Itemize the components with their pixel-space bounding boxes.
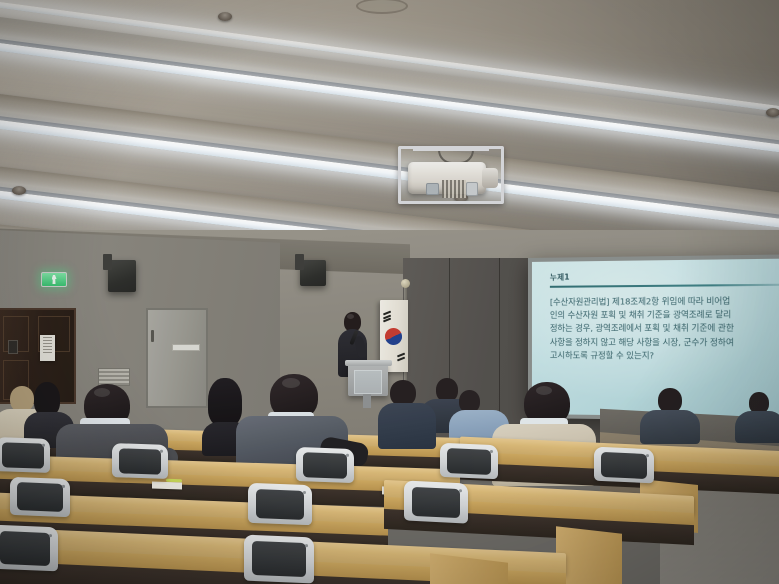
slide-line-2: 인의 수산자원 포획 및 채취 기준을 광역조례로 달리 — [550, 308, 779, 323]
slide-line-3: 정하는 경우, 광역조례에서 포획 및 채취 기준에 관한 — [550, 322, 779, 336]
notice-line — [43, 343, 52, 344]
speaker-bracket — [295, 254, 304, 270]
sprinkler-head-3 — [766, 108, 779, 117]
lecture-chair[interactable] — [248, 483, 312, 525]
slide-body-text: [수산자원관리법] 제18조제2항 위임에 따라 비어업 인의 수산자원 포획 … — [550, 294, 779, 364]
chair-bolt — [62, 485, 65, 488]
slide-line-1: [수산자원관리법] 제18조제2항 위임에 따라 비어업 — [550, 294, 779, 309]
attendee-torso — [378, 403, 436, 449]
podium-top-ledge — [345, 360, 392, 366]
podium-stem — [363, 394, 371, 408]
notice-line — [43, 352, 52, 353]
presenter-hair-highlight — [347, 314, 354, 319]
lecture-chair[interactable] — [112, 443, 168, 479]
projector-lens — [482, 168, 498, 188]
sprinkler-head-4 — [12, 186, 26, 195]
chair-backrest-pad — [601, 452, 647, 479]
projector-control-panel — [426, 183, 439, 195]
attendee-hair-highlight — [94, 388, 110, 397]
chair-backrest-pad — [303, 452, 347, 479]
highlighter-pen[interactable] — [166, 479, 182, 483]
chair-backrest-pad — [17, 482, 63, 512]
lecture-chair[interactable] — [404, 480, 468, 523]
taeguk-symbol — [382, 325, 405, 348]
lecture-chair[interactable] — [0, 525, 58, 572]
lecture-chair[interactable] — [296, 447, 354, 483]
fire-alarm-box[interactable] — [8, 340, 18, 354]
notice-line — [43, 337, 52, 338]
wall-speaker-left — [108, 260, 136, 292]
projector-assembly — [398, 146, 504, 204]
attendee-hair-highlight — [282, 378, 300, 388]
notice-line — [43, 340, 52, 341]
door-notice-paper — [40, 335, 55, 361]
projector-detail — [442, 180, 466, 198]
wall-speaker-right — [300, 260, 326, 286]
flag-pole-finial — [401, 279, 410, 288]
speaker-bracket — [103, 254, 112, 270]
chair-backrest-pad — [256, 489, 305, 520]
slide-header: 누제1 — [550, 269, 779, 283]
lecture-hall-photo: 누제1 [수산자원관리법] 제18조제2항 위임에 따라 비어업 인의 수산자원… — [0, 0, 779, 584]
sprinkler-head-1 — [218, 12, 232, 21]
door-room-sign — [172, 344, 200, 351]
exit-running-man-icon — [52, 275, 57, 284]
notice-line — [43, 346, 52, 347]
desk-row-foreground — [0, 540, 779, 584]
handout-paper[interactable] — [152, 481, 182, 489]
chair-backrest-pad — [412, 486, 461, 518]
lecture-chair[interactable] — [244, 535, 314, 584]
slide-line-5: 고시하도록 규정할 수 있는지? — [550, 349, 779, 363]
notice-line — [43, 349, 52, 350]
chair-backrest-pad — [252, 541, 305, 577]
lecture-chair[interactable] — [10, 477, 70, 517]
chair-backrest-pad — [447, 448, 491, 475]
exit-sign — [41, 272, 67, 287]
attendee-hair-highlight — [536, 386, 552, 395]
slide-divider-rule — [550, 284, 779, 288]
chair-backrest-pad — [0, 531, 50, 566]
lecture-chair[interactable] — [440, 443, 498, 479]
projector-vent — [466, 182, 478, 196]
lecture-chair[interactable] — [594, 447, 654, 484]
slide-line-4: 사항을 정하지 않고 해당 사항을 시장, 군수가 정하여 — [550, 336, 779, 350]
projector-body — [408, 162, 486, 194]
attendee-right-navy-vest — [378, 380, 438, 448]
door-handle[interactable] — [151, 330, 154, 342]
chair-backrest-pad — [119, 448, 162, 475]
chair-backrest-pad — [2, 442, 43, 469]
lecture-chair[interactable] — [0, 437, 50, 473]
